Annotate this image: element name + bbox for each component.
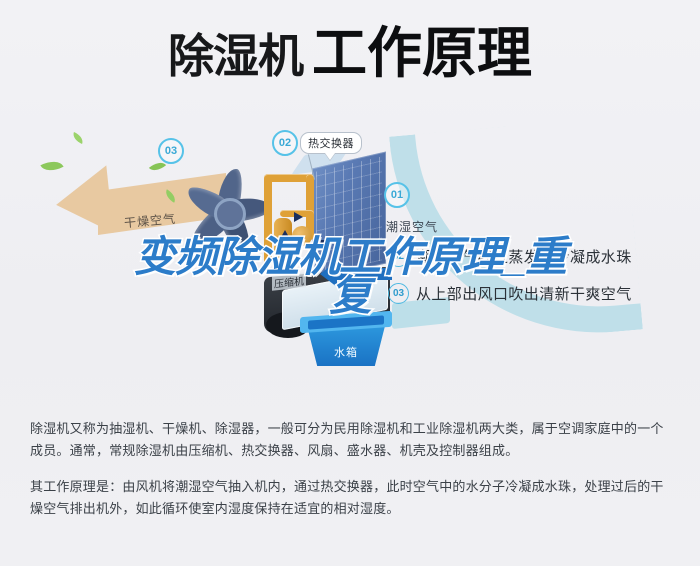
flow-arrow-down-icon xyxy=(315,240,325,249)
air-intake-arrow-icon xyxy=(336,268,392,280)
refrigerant-coil-icon xyxy=(258,174,320,278)
humid-air-label: 潮湿空气 xyxy=(386,218,438,235)
poster-root: 除湿机工作原理 干燥空气 xyxy=(0,0,700,566)
flow-arrow-right-icon xyxy=(294,212,303,222)
step-number-badge: 03 xyxy=(388,283,409,304)
list-item: 02 潮湿空气经过蒸发器冷凝成水珠 xyxy=(388,238,688,275)
step-text: 潮湿空气经过蒸发器冷凝成水珠 xyxy=(416,246,632,267)
step-text: 从上部出风口吹出清新干爽空气 xyxy=(416,283,632,304)
body-paragraph-2: 其工作原理是：由风机将潮湿空气抽入机内，通过热交换器，此时空气中的水分子冷凝成水… xyxy=(30,476,674,520)
body-copy: 除湿机又称为抽湿机、干燥机、除湿器，一般可分为民用除湿机和工业除湿机两大类，属于… xyxy=(30,418,674,520)
dry-air-arrow-head xyxy=(53,165,114,238)
page-title: 除湿机工作原理 xyxy=(0,26,700,81)
heat-exchanger-callout: 热交换器 xyxy=(300,132,362,154)
diagram-badge-02: 02 xyxy=(272,130,298,156)
fan-hub xyxy=(214,198,246,230)
coil-valve-knob xyxy=(292,226,312,246)
list-item: 03 从上部出风口吹出清新干爽空气 xyxy=(388,275,688,312)
leaf-icon xyxy=(71,132,85,144)
water-tank-rim-inner xyxy=(308,315,384,329)
diagram-badge-01: 01 xyxy=(384,182,410,208)
page-title-part1: 除湿机 xyxy=(168,30,303,82)
body-paragraph-1: 除湿机又称为抽湿机、干燥机、除湿器，一般可分为民用除湿机和工业除湿机两大类，属于… xyxy=(30,418,674,462)
water-tank-icon: 水箱 xyxy=(300,314,392,368)
flow-arrow-up-icon xyxy=(280,230,290,239)
coil-pipe xyxy=(264,174,272,266)
diagram-badge-03: 03 xyxy=(158,138,184,164)
page-title-part2: 工作原理 xyxy=(312,22,532,84)
water-tank-label: 水箱 xyxy=(334,344,358,360)
step-list: 02 潮湿空气经过蒸发器冷凝成水珠 03 从上部出风口吹出清新干爽空气 xyxy=(388,238,688,312)
step-number-badge: 02 xyxy=(388,246,409,267)
